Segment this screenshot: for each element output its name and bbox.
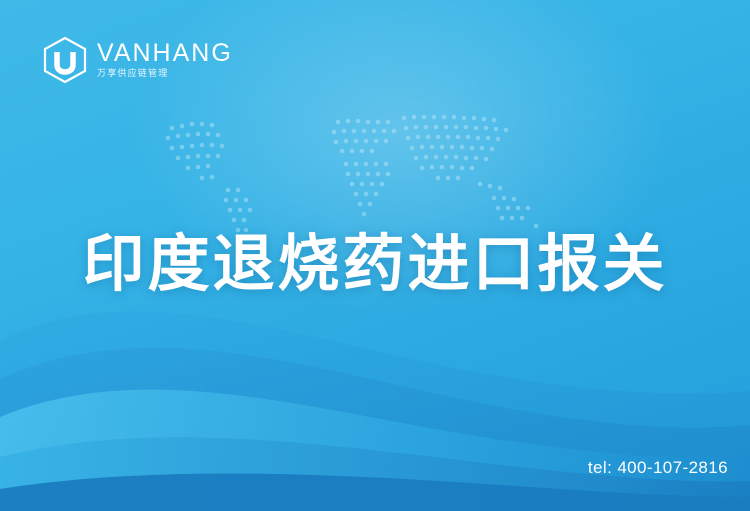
logo-subtitle: 万享供应链管理 [97,70,233,79]
logo-text-block: VANHANG 万享供应链管理 [97,41,233,79]
promo-banner: VANHANG 万享供应链管理 印度退烧药进口报关 [0,0,750,511]
brand-logo: VANHANG 万享供应链管理 [42,36,233,84]
contact-phone: tel: 400-107-2816 [588,458,728,478]
hexagon-u-logo-icon [42,36,88,84]
logo-wordmark: VANHANG [97,41,233,66]
